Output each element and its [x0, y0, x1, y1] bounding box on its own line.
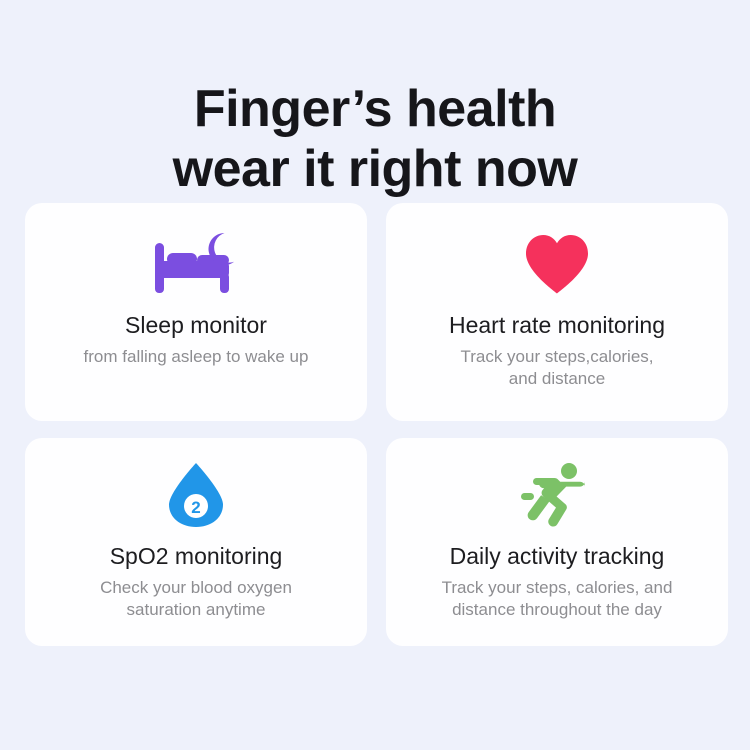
- card-title: Heart rate monitoring: [439, 311, 675, 339]
- headline-line-1: Finger’s health: [0, 79, 750, 139]
- bed-moon-icon: [153, 225, 239, 303]
- running-person-icon: [519, 456, 595, 534]
- card-title: Daily activity tracking: [440, 542, 675, 570]
- heart-icon: [522, 225, 592, 303]
- card-title: Sleep monitor: [115, 311, 277, 339]
- drop-badge-text: 2: [191, 498, 200, 517]
- headline-line-2: wear it right now: [0, 139, 750, 199]
- feature-card-heart-rate: Heart rate monitoring Track your steps,c…: [386, 203, 728, 421]
- card-description: Track your steps,calories, and distance: [438, 346, 675, 390]
- card-description: Check your blood oxygen saturation anyti…: [78, 577, 314, 621]
- feature-card-grid: Sleep monitor from falling asleep to wak…: [25, 203, 728, 646]
- page-title: Finger’s health wear it right now: [0, 79, 750, 199]
- feature-card-daily-activity: Daily activity tracking Track your steps…: [386, 438, 728, 646]
- water-drop-o2-icon: 2: [167, 456, 225, 534]
- promo-page: Finger’s health wear it right now: [0, 0, 750, 750]
- card-description: from falling asleep to wake up: [62, 346, 331, 368]
- card-description: Track your steps, calories, and distance…: [420, 577, 695, 621]
- feature-card-sleep-monitor: Sleep monitor from falling asleep to wak…: [25, 203, 367, 421]
- card-title: SpO2 monitoring: [100, 542, 293, 570]
- feature-card-spo2: 2 SpO2 monitoring Check your blood oxyge…: [25, 438, 367, 646]
